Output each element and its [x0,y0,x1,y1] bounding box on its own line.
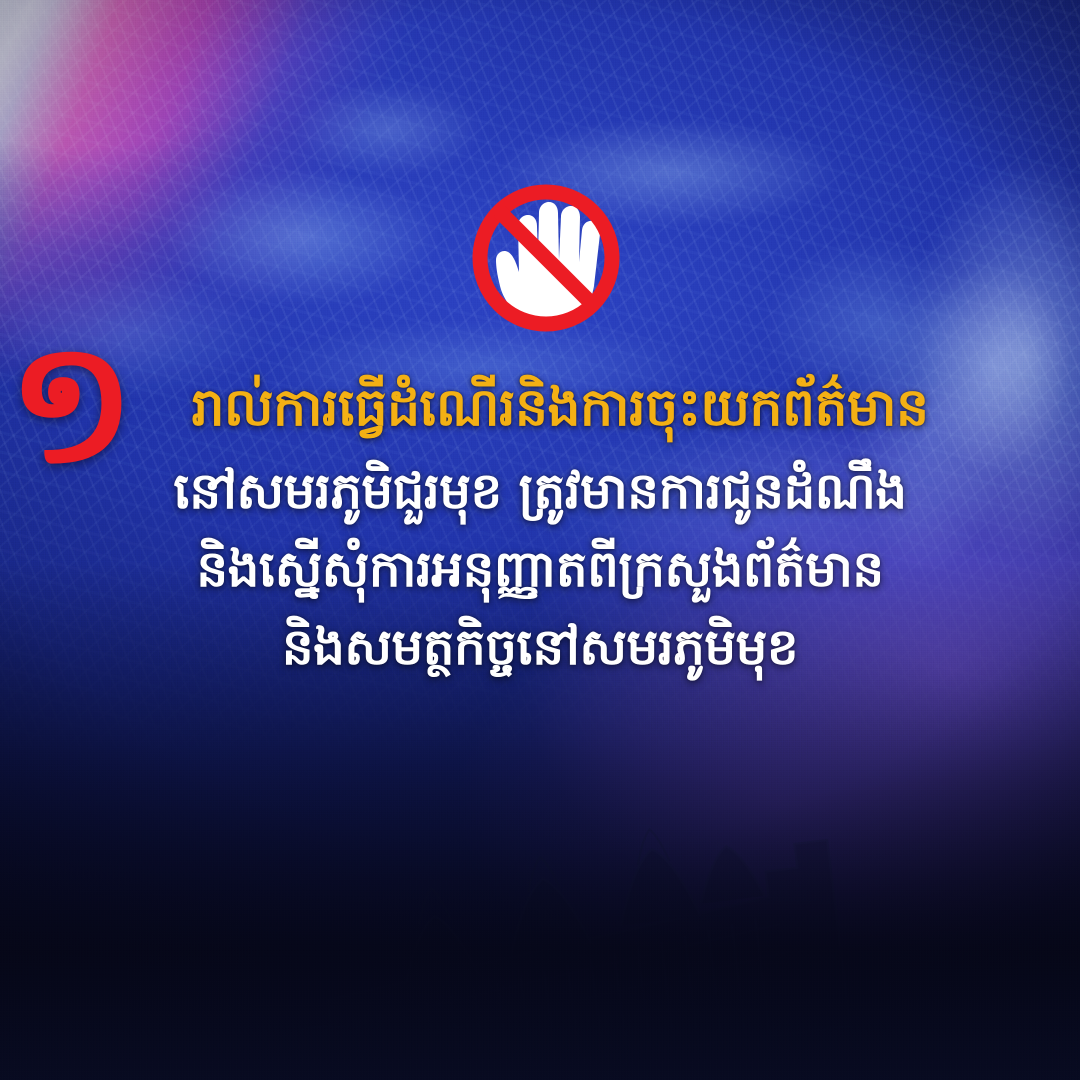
headline-block: រាល់ការធ្វើដំណើរនិងការចុះយកព័ត៌មាន នៅសមរ… [0,382,1080,672]
headline-line-3: និងស្នើសុំការអនុញ្ញាតពីក្រសួងព័ត៌មាន [0,544,1080,594]
headline-line-4: និងសមត្ថកិច្ចនៅសមរភូមិមុខ [0,622,1080,672]
headline-line-1: រាល់ការធ្វើដំណើរនិងការចុះយកព័ត៌មាន [40,382,1080,440]
headline-line-2: នៅសមរភូមិជួរមុខ ត្រូវមានការជូនដំណឹង [0,466,1080,516]
angkor-temple-silhouette [255,812,855,1080]
poster-canvas: ១ រាល់ការធ្វើដំណើរនិងការចុះយកព័ត៌មាន នៅស… [0,0,1080,1080]
no-entry-hand-icon [455,182,637,334]
item-number-badge: ១ [8,336,135,470]
